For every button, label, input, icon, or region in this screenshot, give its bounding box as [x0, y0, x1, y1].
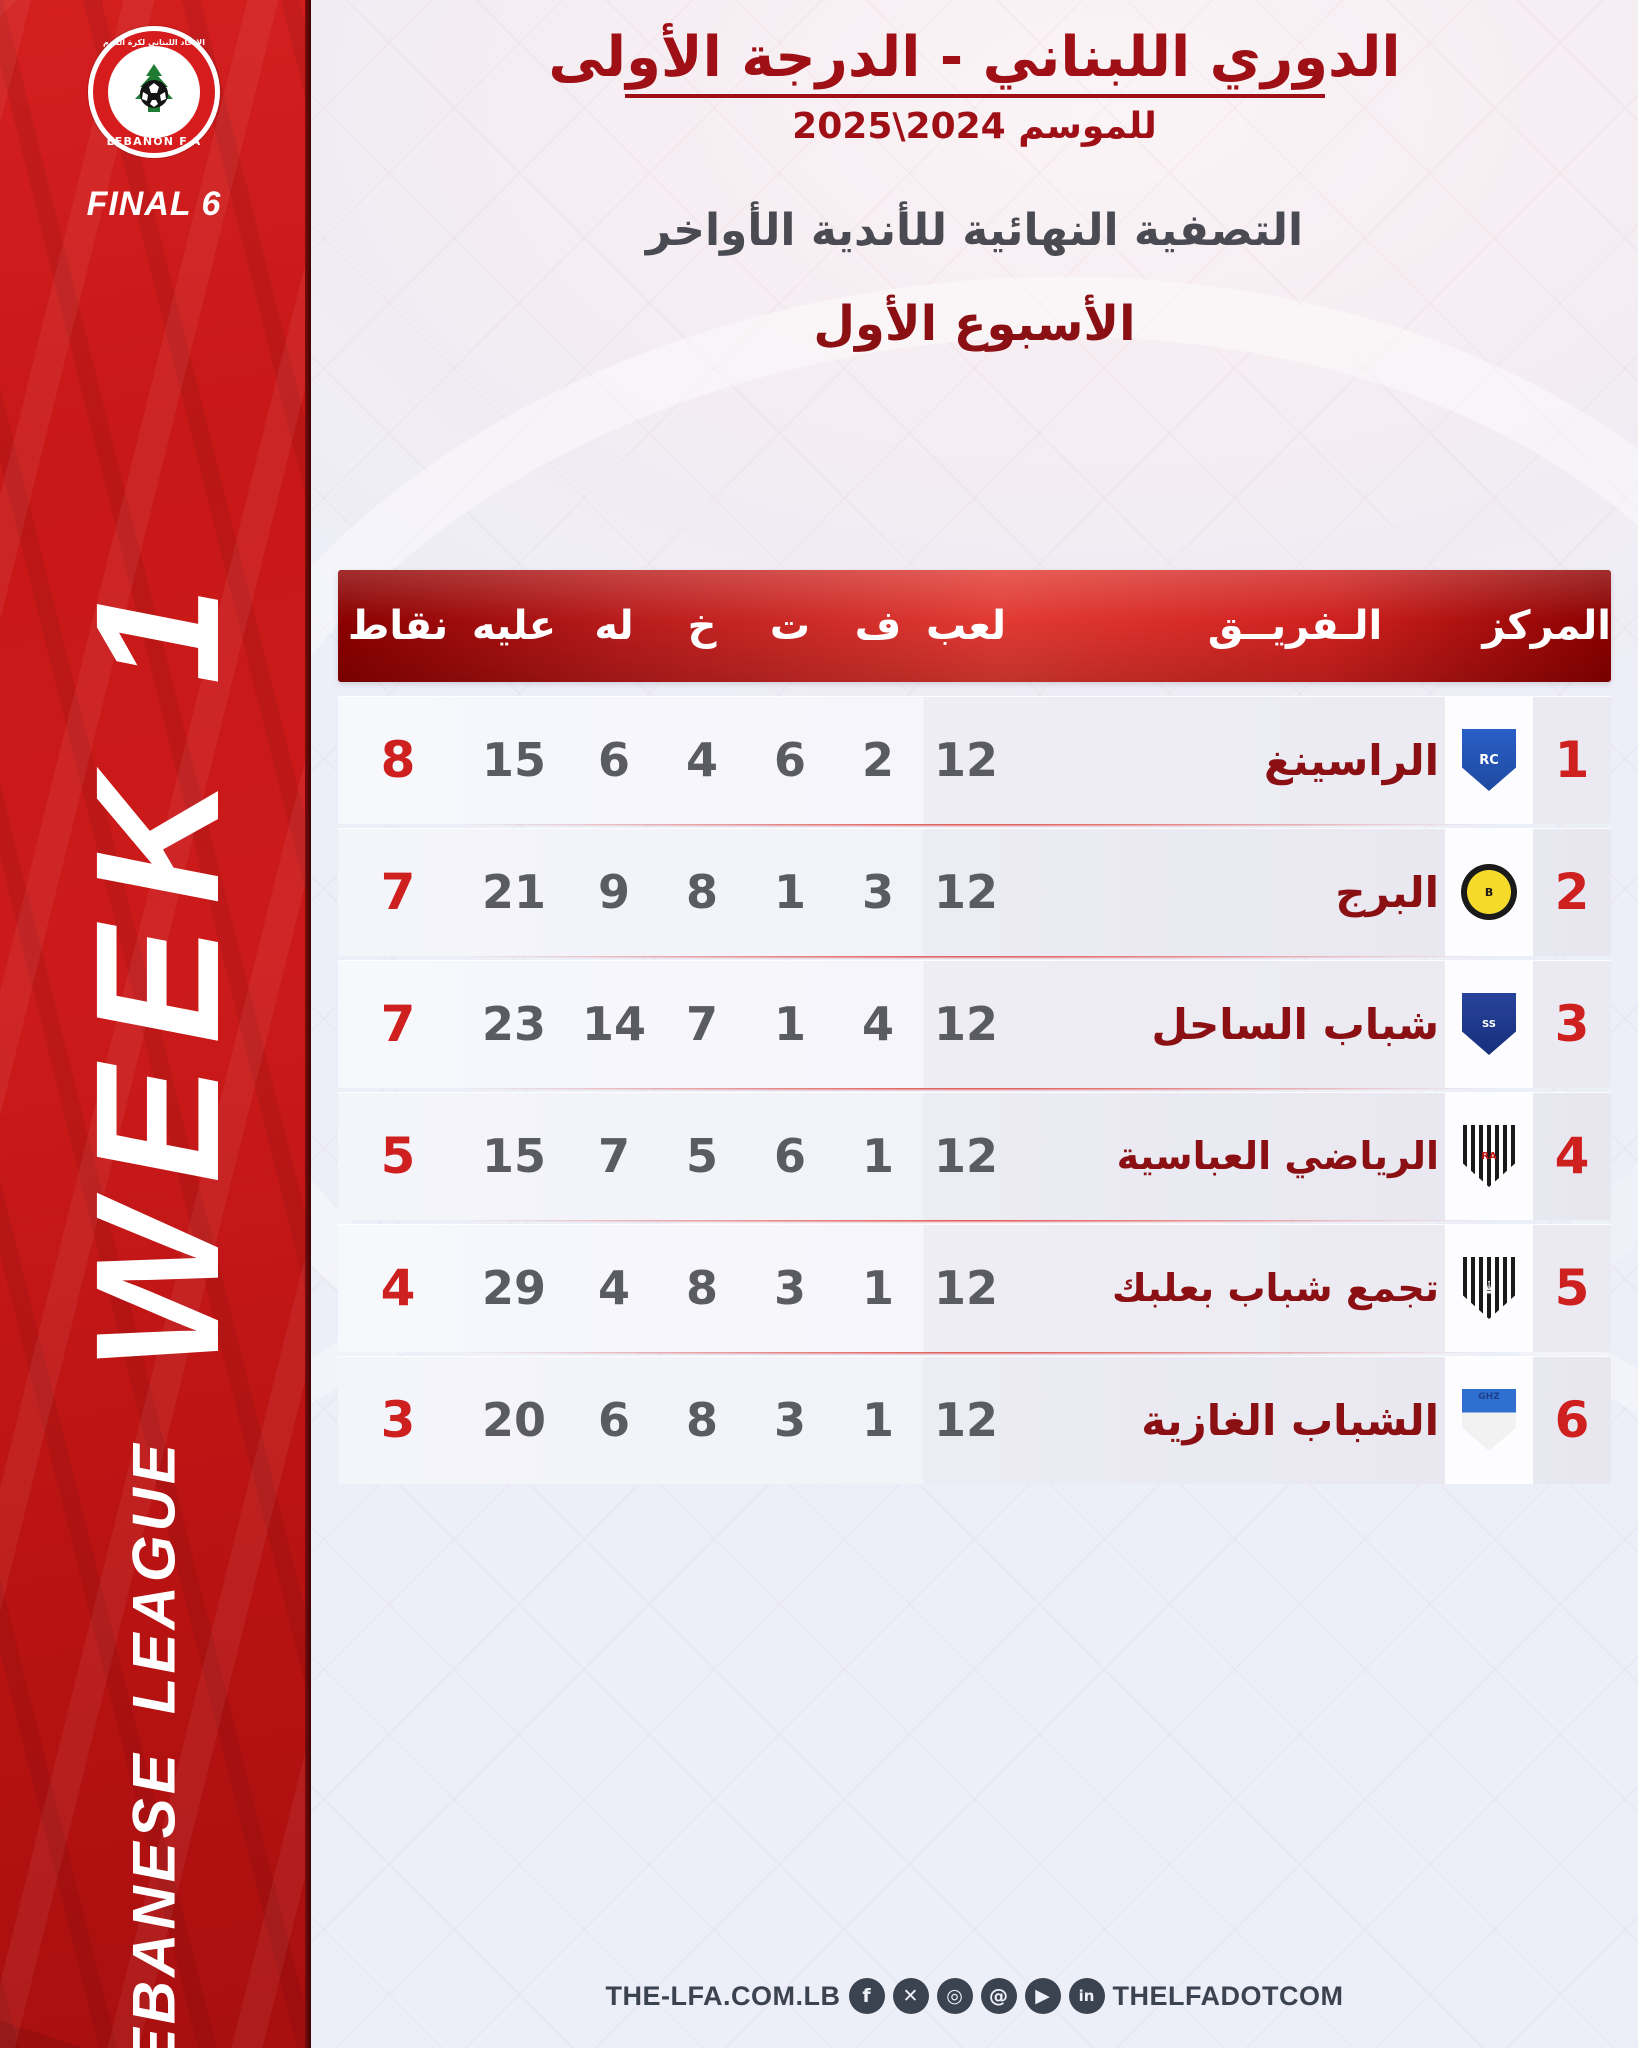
- season-label: للموسم 2024\2025: [311, 106, 1638, 147]
- club-badge-text: RC: [1479, 753, 1499, 768]
- cell-goals-for: 4: [570, 1224, 658, 1352]
- cell-rank: 1: [1533, 696, 1611, 824]
- cell-lost: 8: [658, 1224, 746, 1352]
- column-header-won: ف: [834, 603, 922, 649]
- club-badge-text: B: [1485, 886, 1493, 899]
- subtitle-label: التصفية النهائية للأندية الأواخر: [311, 205, 1638, 256]
- column-header-played: لعب: [922, 603, 1010, 649]
- cell-spacer: [1010, 1224, 1145, 1352]
- cell-goals-against: 15: [458, 696, 570, 824]
- league-word-league: LEAGUE: [120, 1440, 189, 1714]
- cell-won: 4: [834, 960, 922, 1088]
- cell-played: 12: [922, 1356, 1010, 1484]
- cell-spacer: [1010, 960, 1145, 1088]
- club-badge-icon: SS: [1462, 993, 1516, 1055]
- cell-club-badge: SS: [1445, 960, 1533, 1088]
- cell-club-badge: ♛: [1445, 1224, 1533, 1352]
- table-row[interactable]: 4 RA الرياضي العباسية 12 1 6 5 7 15 5: [338, 1092, 1611, 1220]
- column-header-drawn: ت: [746, 603, 834, 649]
- linkedin-icon[interactable]: in: [1069, 1978, 1105, 2014]
- column-header-points: نقاط: [338, 603, 458, 649]
- cell-team-name: الرياضي العباسية: [1145, 1092, 1445, 1220]
- cell-drawn: 6: [746, 696, 834, 824]
- crest-english-text: LEBANON F.A: [93, 135, 215, 148]
- cell-goals-for: 6: [570, 1356, 658, 1484]
- cell-played: 12: [922, 960, 1010, 1088]
- club-badge-icon: B: [1461, 864, 1517, 920]
- cell-won: 1: [834, 1224, 922, 1352]
- footer-website[interactable]: THE-LFA.COM.LB: [606, 1981, 841, 2012]
- title-underline: [625, 94, 1325, 98]
- cell-rank: 6: [1533, 1356, 1611, 1484]
- table-row[interactable]: 6 GHZ الشباب الغازية 12 1 3 8 6 20 3: [338, 1356, 1611, 1484]
- column-header-goals-against: عليه: [458, 603, 570, 649]
- cell-spacer: [1010, 1356, 1145, 1484]
- club-badge-text: RA: [1481, 1151, 1496, 1162]
- instagram-icon[interactable]: ◎: [937, 1978, 973, 2014]
- main-panel: الدوري اللبناني - الدرجة الأولى للموسم 2…: [311, 0, 1638, 2048]
- league-name-vertical: LEBANESE LEAGUE: [120, 1357, 189, 2048]
- header-block: الدوري اللبناني - الدرجة الأولى للموسم 2…: [311, 0, 1638, 352]
- cell-lost: 5: [658, 1092, 746, 1220]
- cell-points: 7: [338, 960, 458, 1088]
- cell-goals-for: 14: [570, 960, 658, 1088]
- cell-goals-against: 23: [458, 960, 570, 1088]
- cell-lost: 4: [658, 696, 746, 824]
- cell-team-name: الشباب الغازية: [1145, 1356, 1445, 1484]
- column-header-goals-for: له: [570, 603, 658, 649]
- cell-goals-for: 6: [570, 696, 658, 824]
- club-badge-icon: GHZ: [1462, 1389, 1516, 1451]
- club-badge-icon: ♛: [1463, 1257, 1515, 1319]
- column-header-lost: خ: [658, 603, 746, 649]
- lebanon-fa-crest-icon: الاتحاد اللبناني لكرة القدم LEBANON F.A: [88, 26, 220, 158]
- cell-rank: 5: [1533, 1224, 1611, 1352]
- club-badge-text: ♛: [1481, 1278, 1497, 1299]
- sidebar-divider: [305, 0, 311, 2048]
- cell-goals-for: 7: [570, 1092, 658, 1220]
- cell-club-badge: RC: [1445, 696, 1533, 824]
- club-badge-icon: RA: [1463, 1125, 1515, 1187]
- crest-inner-disc: [108, 46, 200, 138]
- week-heading: الأسبوع الأول: [311, 296, 1638, 352]
- cell-drawn: 3: [746, 1356, 834, 1484]
- club-badge-icon: RC: [1462, 729, 1516, 791]
- table-row[interactable]: 1 RC الراسينغ 12 2 6 4 6 15 8: [338, 696, 1611, 824]
- table-header-row: المركز الـفريــق لعب ف ت خ له عليه نقاط: [338, 570, 1611, 682]
- standings-table: المركز الـفريــق لعب ف ت خ له عليه نقاط …: [311, 570, 1638, 1488]
- cell-spacer: [1010, 1092, 1145, 1220]
- cell-goals-against: 29: [458, 1224, 570, 1352]
- cell-points: 7: [338, 828, 458, 956]
- cell-lost: 7: [658, 960, 746, 1088]
- column-header-team: الـفريــق: [1145, 603, 1445, 649]
- club-badge-text: SS: [1482, 1019, 1496, 1030]
- club-badge-text: GHZ: [1478, 1392, 1499, 1402]
- cell-played: 12: [922, 828, 1010, 956]
- cell-spacer: [1010, 696, 1145, 824]
- cedar-and-ball-icon: [116, 54, 192, 130]
- final-6-label: FINAL 6: [0, 185, 308, 224]
- table-row[interactable]: 3 SS شباب الساحل 12 4 1 7 14 23 7: [338, 960, 1611, 1088]
- cell-goals-against: 20: [458, 1356, 570, 1484]
- facebook-icon[interactable]: f: [849, 1978, 885, 2014]
- cell-team-name: الراسينغ: [1145, 696, 1445, 824]
- table-body: 1 RC الراسينغ 12 2 6 4 6 15 8 2: [338, 696, 1611, 1484]
- cell-lost: 8: [658, 828, 746, 956]
- table-row[interactable]: 5 ♛ تجمع شباب بعلبك 12 1 3 8 4 29 4: [338, 1224, 1611, 1352]
- cell-team-name: شباب الساحل: [1145, 960, 1445, 1088]
- cell-goals-against: 21: [458, 828, 570, 956]
- cell-club-badge: B: [1445, 828, 1533, 956]
- footer-handle[interactable]: THELFADOTCOM: [1113, 1981, 1344, 2012]
- cell-club-badge: GHZ: [1445, 1356, 1533, 1484]
- cell-points: 3: [338, 1356, 458, 1484]
- cell-points: 4: [338, 1224, 458, 1352]
- cell-points: 8: [338, 696, 458, 824]
- cell-lost: 8: [658, 1356, 746, 1484]
- left-brand-sidebar: الاتحاد اللبناني لكرة القدم LEBANON F.A …: [0, 0, 308, 2048]
- footer-bar: THE-LFA.COM.LB f ✕ ◎ @ ▶ in THELFADOTCOM: [311, 1978, 1638, 2014]
- table-row[interactable]: 2 B البرج 12 3 1 8 9 21 7: [338, 828, 1611, 956]
- column-header-rank: المركز: [1533, 603, 1611, 649]
- cell-drawn: 3: [746, 1224, 834, 1352]
- cell-goals-against: 15: [458, 1092, 570, 1220]
- cell-team-name: البرج: [1145, 828, 1445, 956]
- cell-rank: 2: [1533, 828, 1611, 956]
- league-word-lebanese: LEBANESE: [120, 1750, 189, 2048]
- cell-club-badge: RA: [1445, 1092, 1533, 1220]
- cell-won: 3: [834, 828, 922, 956]
- cell-won: 1: [834, 1092, 922, 1220]
- cell-points: 5: [338, 1092, 458, 1220]
- youtube-icon[interactable]: ▶: [1025, 1978, 1061, 2014]
- cell-played: 12: [922, 1092, 1010, 1220]
- threads-icon[interactable]: @: [981, 1978, 1017, 2014]
- cell-drawn: 6: [746, 1092, 834, 1220]
- cell-rank: 3: [1533, 960, 1611, 1088]
- cell-goals-for: 9: [570, 828, 658, 956]
- x-twitter-icon[interactable]: ✕: [893, 1978, 929, 2014]
- cell-spacer: [1010, 828, 1145, 956]
- cell-rank: 4: [1533, 1092, 1611, 1220]
- cell-played: 12: [922, 696, 1010, 824]
- cell-team-name: تجمع شباب بعلبك: [1145, 1224, 1445, 1352]
- cell-drawn: 1: [746, 828, 834, 956]
- cell-played: 12: [922, 1224, 1010, 1352]
- cell-drawn: 1: [746, 960, 834, 1088]
- page-title: الدوري اللبناني - الدرجة الأولى: [311, 26, 1638, 90]
- cell-won: 1: [834, 1356, 922, 1484]
- cell-won: 2: [834, 696, 922, 824]
